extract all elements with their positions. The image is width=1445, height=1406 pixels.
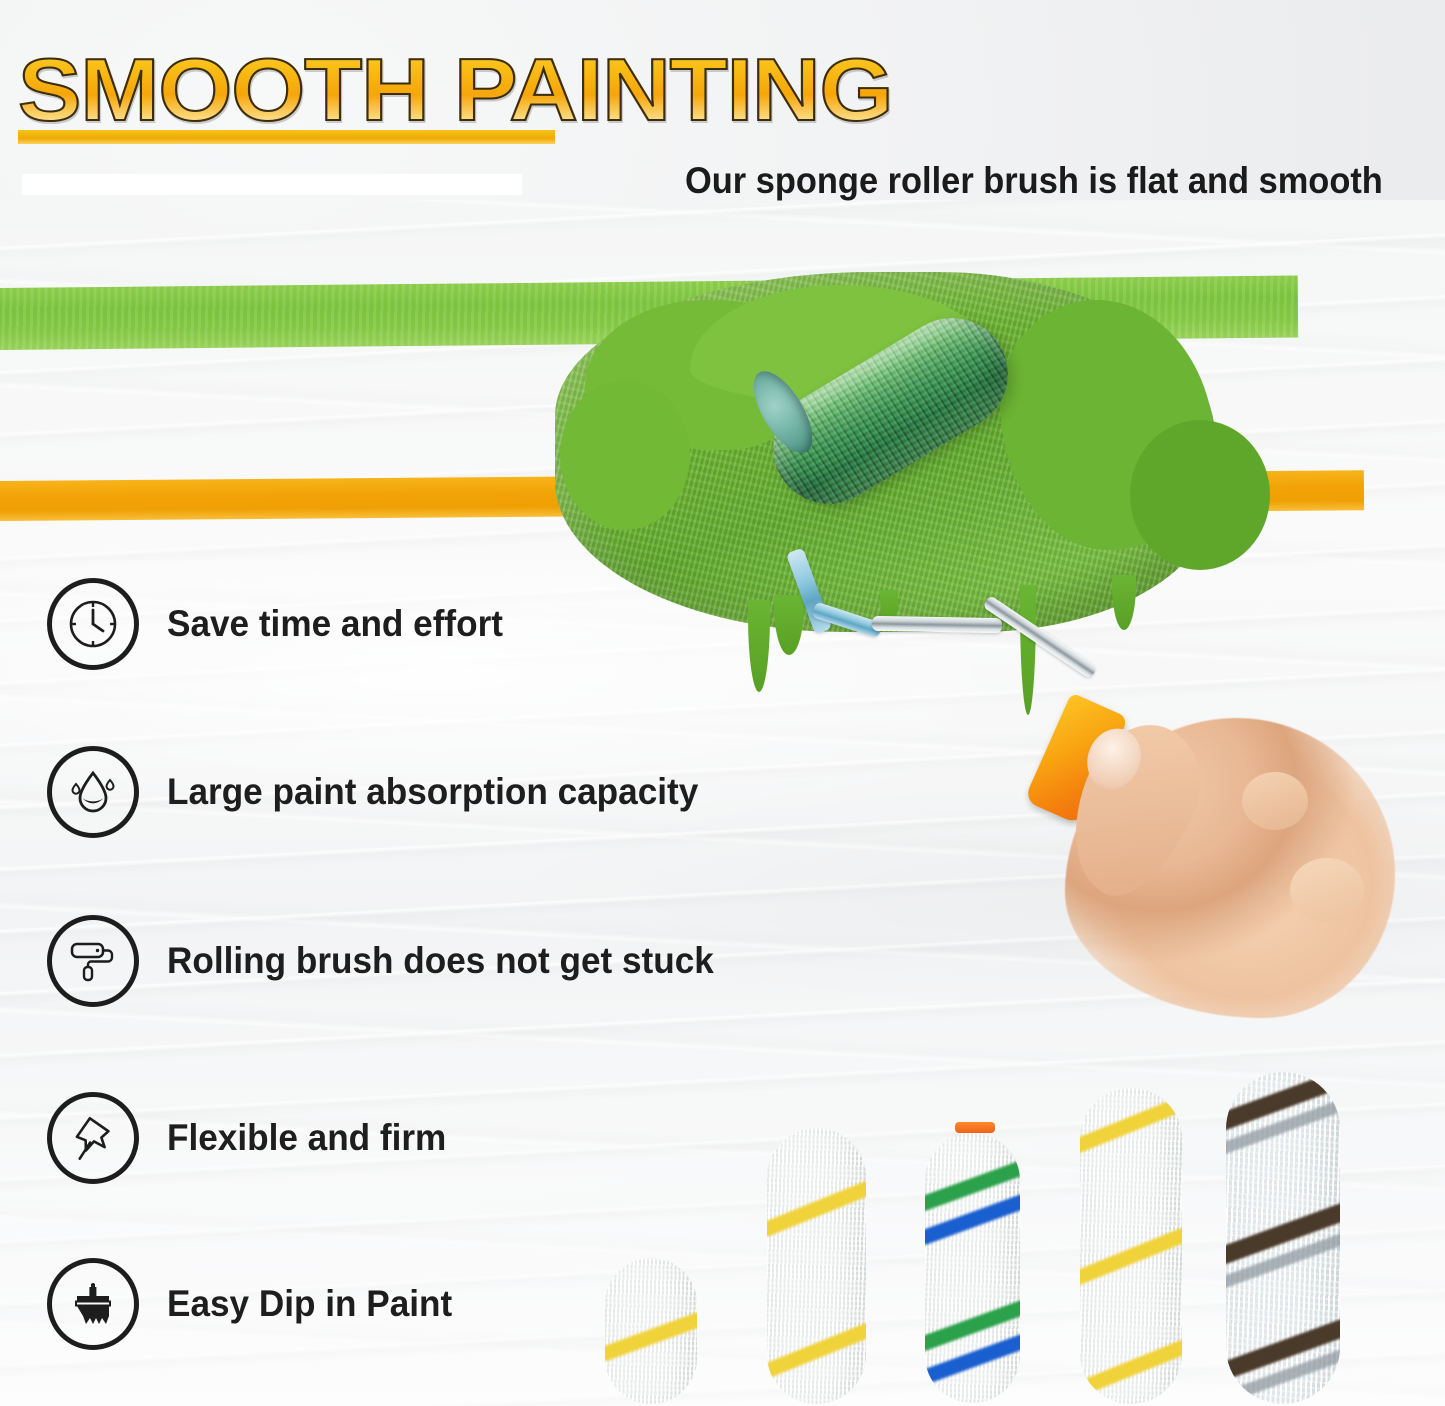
clock-icon	[47, 578, 139, 670]
roller-frame-horizontal	[872, 616, 1002, 633]
page-title: SMOOTH PAINTING	[18, 44, 892, 136]
roller-cover-large	[1080, 1088, 1182, 1404]
water-drop-icon	[47, 746, 139, 838]
paint-brush-icon	[47, 1258, 139, 1350]
feature-item-4: Flexible and firm	[47, 1092, 461, 1184]
roller-cover-medium	[925, 1133, 1020, 1403]
feature-label-4: Flexible and firm	[167, 1117, 446, 1159]
push-pin-icon	[47, 1092, 139, 1184]
feature-item-5: Easy Dip in Paint	[47, 1258, 467, 1350]
roller-cover-xs	[605, 1258, 697, 1404]
paint-drip-1	[748, 600, 770, 692]
roller-cover-small	[767, 1128, 866, 1404]
roller-cover-medium-cap	[955, 1122, 995, 1133]
feature-item-2: Large paint absorption capacity	[47, 746, 726, 838]
page-title-wrap: SMOOTH PAINTING	[18, 44, 828, 136]
feature-label-2: Large paint absorption capacity	[167, 771, 698, 813]
feature-label-5: Easy Dip in Paint	[167, 1283, 452, 1325]
paint-drip-4	[1112, 575, 1136, 630]
page-subtitle: Our sponge roller brush is flat and smoo…	[685, 160, 1383, 202]
feature-item-3: Rolling brush does not get stuck	[47, 915, 743, 1007]
feature-label-1: Save time and effort	[167, 603, 503, 645]
paint-blob-far-right	[1130, 420, 1270, 570]
feature-item-1: Save time and effort	[47, 578, 521, 670]
feature-label-3: Rolling brush does not get stuck	[167, 940, 714, 982]
paint-blob-far-left	[560, 380, 690, 530]
roller-cover-xl	[1226, 1072, 1340, 1404]
middle-finger	[1290, 858, 1364, 922]
index-finger	[1242, 772, 1308, 830]
title-white-accent-bar	[22, 174, 522, 195]
title-underline-bar	[18, 130, 555, 144]
paint-drip-2	[774, 595, 804, 655]
infographic-canvas: SMOOTH PAINTING Our sponge roller brush …	[0, 0, 1445, 1406]
paint-roller-icon	[47, 915, 139, 1007]
paint-drip-3	[1020, 585, 1036, 715]
